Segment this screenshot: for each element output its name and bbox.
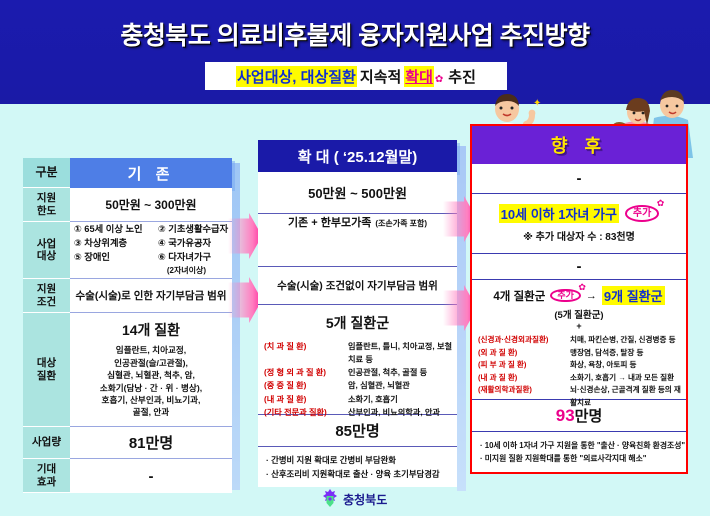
subtitle-part-1: 사업대상, 대상질환 [236,66,357,87]
future-targets: 10세 이하 1자녀 가구 추가 ✿ ※ 추가 대상자 수 : 83천명 [472,194,686,254]
existing-target-1: ① 65세 이상 노인 [74,223,152,237]
expand-support-limit: 50만원 ~ 500만원 [258,172,457,214]
future-disease-group-3-key: (피 부 과 질 환) [478,359,570,372]
row-label-target-line2: 대상 [37,250,56,262]
expand-target-main: 기존 + 한부모가족 [288,214,371,230]
existing-condition: 수술(시술)로 인한 자기부담금 범위 [70,279,232,313]
future-target-main: 10세 이하 1자녀 가구 [499,204,619,223]
future-header: 향 후 [472,126,686,164]
future-diseases: 4개 질환군 추가 ✿ → 9개 질환군 (5개 질환군) + (신경과·신경외… [472,280,686,400]
existing-effect: - [70,459,232,493]
future-effect-list: · 10세 이하 1자녀 가구 지원을 통한 "출산 · 양육친화 환경조성" … [472,439,686,466]
row-label-gubun: 구분 [23,158,70,188]
arrow-existing-to-expand-top [228,213,262,259]
existing-disease-line-4: 소화기(담낭 · 간 · 위 · 병상), [100,382,202,394]
future-target-badge-label: 추가 [633,208,651,219]
existing-disease-title: 14개 질환 [122,320,180,340]
future-disease-group-4-value: 소화기, 호흡기 → 내과 모든 질환 [570,372,674,385]
future-disease-groups: (신경과·신경외과질환) 치매, 파킨슨병, 간질, 신경병증 등 (외 과 질… [472,334,686,409]
existing-target-3: ③ 차상위계층 [74,237,152,251]
expand-disease-group-5-key: (기타 전문과 질환) [264,406,348,419]
existing-disease-line-6: 골절, 안과 [100,406,202,418]
expand-disease-title: 5개 질환군 [326,313,389,333]
row-label-disease: 대상 질환 [23,313,70,427]
expand-header: 확 대 ( ‘25.12월말) [258,140,457,172]
expand-disease-group-3: (중 증 질 환) 암, 심혈관, 뇌혈관 [264,379,457,392]
future-disease-group-3-value: 화상, 욕창, 아토피 등 [570,359,636,372]
row-label-support-limit: 지원 한도 [23,188,70,222]
existing-target-5: ⑤ 장애인 [74,251,152,265]
existing-volume: 81만명 [70,427,232,459]
infographic-page: 충청북도 의료비후불제 융자지원사업 추진방향 사업대상, 대상질환 지속적 확… [0,0,710,516]
subtitle-part-4: 추진 [448,66,476,87]
future-disease-group-1-value: 치매, 파킨슨병, 간질, 신경병증 등 [570,334,676,347]
expand-target-sub: (조손가족 포함) [375,218,427,229]
row-label-condition-line2: 조건 [37,296,56,308]
row-label-target: 사업 대상 [23,222,70,279]
future-disease-group-4-key: (내 과 질 환) [478,372,570,385]
expand-effect-list: · 간병비 지원 확대로 간병비 부담완화 · 산후조리비 지원확대로 출산 ·… [258,453,457,482]
expand-volume-value: 85만명 [335,420,379,441]
future-disease-plus: + [576,321,581,331]
expand-disease-groups: (치 과 질 환) 임플란트, 틀니, 치아교정, 보철치료 등 (정 형 외 … [258,340,457,419]
existing-disease-line-3: 심혈관, 뇌혈관, 척추, 암, [100,369,202,381]
existing-effect-value: - [149,468,154,485]
expand-disease-group-2-key: (정 형 외 과 질 환) [264,366,348,379]
future-volume-number: 93 [556,406,575,426]
row-label-effect-line1: 기대 [37,463,56,475]
subtitle-banner: 사업대상, 대상질환 지속적 확대 ✿ 추진 [205,62,507,90]
future-disease-sub: (5개 질환군) [554,307,603,321]
row-label-condition-line1: 지원 [37,283,56,295]
existing-target-list: ① 65세 이상 노인 ② 기초생활수급자 ③ 차상위계층 ④ 국가유공자 ⑤ … [74,223,228,277]
expand-disease-group-1-key: (치 과 질 환) [264,340,348,353]
existing-target-2: ② 기초생활수급자 [158,223,228,237]
row-label-support-limit-line2: 한도 [37,205,56,217]
future-disease-group-2-key: (외 과 질 환) [478,347,570,360]
existing-disease-line-1: 임플란트, 치아교정, [100,344,202,356]
footer-logo: 충청북도 [0,489,710,510]
row-label-volume: 사업량 [23,427,70,459]
footer-logo-text: 충청북도 [343,493,387,507]
expand-disease-group-4-key: (내 과 질 환) [264,393,348,406]
existing-target-4: ④ 국가유공자 [158,237,211,251]
expand-disease-group-5-value: 산부인과, 비뇨의학과, 안과 [348,406,440,419]
future-disease-group-2: (외 과 질 환) 맹장염, 담석증, 탈장 등 [478,347,686,360]
row-label-effect-line2: 효과 [37,476,56,488]
existing-column-shadow [232,163,240,490]
existing-targets: ① 65세 이상 노인 ② 기초생활수급자 ③ 차상위계층 ④ 국가유공자 ⑤ … [70,222,232,279]
future-target-note: ※ 추가 대상자 수 : 83천명 [523,228,635,243]
future-disease-group-3: (피 부 과 질 환) 화상, 욕창, 아토피 등 [478,359,686,372]
future-disease-group-5-key: (재활의학과질환) [478,384,570,397]
existing-target-6: ⑥ 다자녀가구 [158,251,211,265]
expand-disease-group-2: (정 형 외 과 질 환) 인공관절, 척추, 골절 등 [264,366,457,379]
future-effect-2: · 미지원 질환 지원확대를 통한 "의료사각지대 해소" [480,452,686,465]
future-support-limit-value: - [577,170,582,187]
badge-star-icon: ✿ [657,199,665,209]
expand-disease-group-1: (치 과 질 환) 임플란트, 틀니, 치아교정, 보철치료 등 [264,340,457,366]
disease-badge-star-icon: ✿ [578,283,586,293]
subtitle-part-3: 확대 [404,66,434,87]
future-disease-arrow-icon: → [586,290,597,302]
existing-header: 기 존 [70,158,232,188]
row-label-disease-line1: 대상 [37,357,56,369]
expand-targets: 기존 + 한부모가족 (조손가족 포함) [258,214,457,267]
subtitle-part-2: 지속적 [360,66,401,87]
row-label-effect: 기대 효과 [23,459,70,493]
row-label-column: 구분 지원 한도 사업 대상 지원 조건 대상 질환 사업량 기대 효과 [23,158,70,493]
future-disease-badge-label: 추가 [557,290,574,300]
existing-diseases: 14개 질환 임플란트, 치아교정, 인공관절(슬/고관절), 심혈관, 뇌혈관… [70,313,232,427]
chungbuk-emblem-icon [323,489,337,510]
future-disease-group-1-key: (신경과·신경외과질환) [478,334,570,347]
existing-disease-line-2: 인공관절(슬/고관절), [100,357,202,369]
expand-disease-group-2-value: 인공관절, 척추, 골절 등 [348,366,427,379]
arrow-existing-to-expand-bottom [228,277,262,323]
expand-condition: 수술(시술) 조건없이 자기부담금 범위 [258,267,457,305]
future-volume-unit: 만명 [575,405,603,426]
expand-effect-2: · 산후조리비 지원확대로 출산 · 양육 초기부담경감 [266,467,457,481]
future-condition: - [472,254,686,280]
expand-disease-group-1-value: 임플란트, 틀니, 치아교정, 보철치료 등 [348,340,457,366]
existing-target-note: (2자녀이상) [158,265,206,277]
expand-disease-group-4: (내 과 질 환) 소화기, 호흡기 [264,393,457,406]
future-effect-1: · 10세 이하 1자녀 가구 지원을 통한 "출산 · 양육친화 환경조성" [480,439,686,452]
expand-volume: 85만명 [258,415,457,447]
expand-effect-1: · 간병비 지원 확대로 간병비 부담완화 [266,453,457,467]
expand-effect: · 간병비 지원 확대로 간병비 부담완화 · 산후조리비 지원확대로 출산 ·… [258,447,457,487]
existing-disease-line-5: 호흡기, 산부인과, 비뇨기과, [100,394,202,406]
existing-disease-list: 임플란트, 치아교정, 인공관절(슬/고관절), 심혈관, 뇌혈관, 척추, 암… [100,344,202,419]
future-disease-badge: 추가 ✿ [550,289,581,303]
expand-diseases: 5개 질환군 (치 과 질 환) 임플란트, 틀니, 치아교정, 보철치료 등 … [258,305,457,415]
future-disease-group-1: (신경과·신경외과질환) 치매, 파킨슨병, 간질, 신경병증 등 [478,334,686,347]
row-label-support-limit-line1: 지원 [37,192,56,204]
expand-disease-group-3-key: (중 증 질 환) [264,379,348,392]
expand-disease-group-5: (기타 전문과 질환) 산부인과, 비뇨의학과, 안과 [264,406,457,419]
expand-disease-group-4-value: 소화기, 호흡기 [348,393,398,406]
future-disease-group-2-value: 맹장염, 담석증, 탈장 등 [570,347,643,360]
page-title: 충청북도 의료비후불제 융자지원사업 추진방향 [0,16,710,52]
future-disease-title-b: 9개 질환군 [602,286,665,305]
future-disease-title-a: 4개 질환군 [493,288,545,304]
flower-icon: ✿ [435,74,443,85]
expand-column: 확 대 ( ‘25.12월말) 50만원 ~ 500만원 기존 + 한부모가족 … [258,140,457,487]
existing-column: 기 존 50만원 ~ 300만원 ① 65세 이상 노인 ② 기초생활수급자 ③… [70,158,232,493]
future-support-limit: - [472,164,686,194]
row-label-disease-line2: 질환 [37,370,56,382]
future-condition-value: - [577,258,582,275]
future-target-badge: 추가 ✿ [625,205,659,222]
expand-disease-group-3-value: 암, 심혈관, 뇌혈관 [348,379,410,392]
existing-support-limit: 50만원 ~ 300만원 [70,188,232,222]
future-effect: · 10세 이하 1자녀 가구 지원을 통한 "출산 · 양육친화 환경조성" … [472,432,686,472]
future-column: 향 후 - 10세 이하 1자녀 가구 추가 ✿ ※ 추가 대상자 수 : 83… [470,124,688,474]
future-disease-group-4: (내 과 질 환) 소화기, 호흡기 → 내과 모든 질환 [478,372,686,385]
existing-volume-value: 81만명 [129,432,173,453]
row-label-target-line1: 사업 [37,238,56,250]
row-label-condition: 지원 조건 [23,279,70,313]
